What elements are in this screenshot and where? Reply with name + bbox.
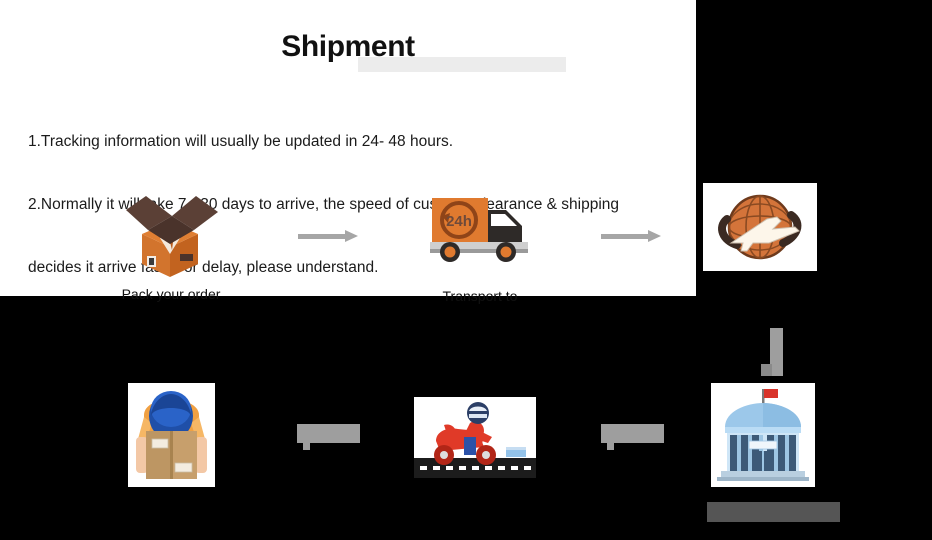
globe-airplane-icon <box>703 183 817 271</box>
arrow-right-icon-2 <box>601 230 661 243</box>
flow-step-courier[interactable] <box>128 383 215 487</box>
flow-step-label-transport: Transport to <box>380 288 580 305</box>
bottom-gray-bar <box>707 502 840 522</box>
flow-step-pack-order[interactable]: Pack your order <box>118 182 223 282</box>
arrow-right-icon-1 <box>298 230 358 243</box>
customs-building-icon <box>711 383 815 487</box>
slide-canvas: Shipment 1.Tracking information will usu… <box>0 0 932 540</box>
flow-step-international-shipping[interactable] <box>703 183 817 271</box>
flow-step-customs[interactable] <box>711 383 815 487</box>
courier-with-parcel-icon <box>128 383 215 487</box>
scooter-delivery-icon <box>414 397 536 478</box>
delivery-truck-24h-icon: 24h <box>428 192 532 272</box>
note-line-1: 1.Tracking information will usually be u… <box>28 131 696 152</box>
gray-mark-shape <box>761 328 783 376</box>
arrow-right-placeholder-icon-2 <box>601 424 664 450</box>
flow-step-local-delivery[interactable] <box>414 397 536 478</box>
content-panel: Shipment 1.Tracking information will usu… <box>0 0 696 296</box>
flow-step-label-pack-order: Pack your order <box>71 286 271 303</box>
page-title: Shipment <box>0 30 696 64</box>
flow-step-transport[interactable]: 24h Transport to <box>428 192 532 272</box>
open-box-icon <box>118 182 223 282</box>
arrow-right-placeholder-icon-1 <box>297 424 360 450</box>
truck-badge-text: 24h <box>446 213 472 230</box>
